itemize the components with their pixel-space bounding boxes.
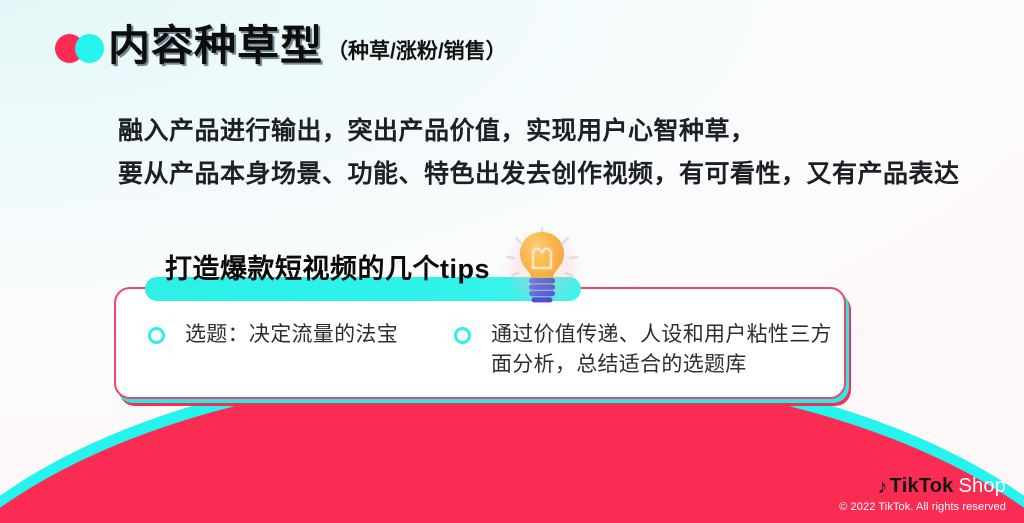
body-paragraph: 融入产品进行输出，突出产品价值，实现用户心智种草， 要从产品本身场景、功能、特色… <box>118 110 948 196</box>
page-title-main: 内容种草型 <box>108 22 323 70</box>
body-line-2: 要从产品本身场景、功能、特色出发去创作视频，有可看性，又有产品表达 <box>118 153 948 196</box>
tip-item: 通过价值传递、人设和用户粘性三方面分析，总结适合的选题库 <box>454 320 834 381</box>
lightbulb-glow <box>502 230 582 308</box>
tip-item-label: 选题：决定流量的法宝 <box>185 320 398 350</box>
page-title-subtitle: （种草/涨粉/销售） <box>327 35 507 65</box>
section-heading-label: 打造爆款短视频的几个tips <box>145 247 508 286</box>
copyright-text: © 2022 TikTok. All rights reserved <box>839 501 1006 513</box>
music-note-icon: ♪ <box>877 477 887 497</box>
tip-item: 选题：决定流量的法宝 <box>148 320 448 350</box>
ring-bullet-icon <box>148 327 165 344</box>
body-line-1: 融入产品进行输出，突出产品价值，实现用户心智种草， <box>118 110 948 153</box>
page-title: 内容种草型 （种草/涨粉/销售） <box>108 22 507 70</box>
brand-name: TikTok <box>890 476 954 496</box>
tip-item-label: 通过价值传递、人设和用户粘性三方面分析，总结适合的选题库 <box>491 320 834 381</box>
dot-cyan-icon <box>75 34 104 63</box>
section-heading: 打造爆款短视频的几个tips <box>145 247 508 286</box>
tiktok-shop-logo: ♪ TikTok Shop <box>839 476 1006 496</box>
slide-canvas: 内容种草型 （种草/涨粉/销售） 融入产品进行输出，突出产品价值，实现用户心智种… <box>0 0 1024 523</box>
two-overlapping-dots-icon <box>55 34 113 64</box>
tips-card: 选题：决定流量的法宝 通过价值传递、人设和用户粘性三方面分析，总结适合的选题库 <box>114 287 846 399</box>
lightbulb-icon <box>494 224 590 310</box>
footer: ♪ TikTok Shop © 2022 TikTok. All rights … <box>839 476 1006 513</box>
product-name: Shop <box>958 476 1006 496</box>
ring-bullet-icon <box>454 327 471 344</box>
